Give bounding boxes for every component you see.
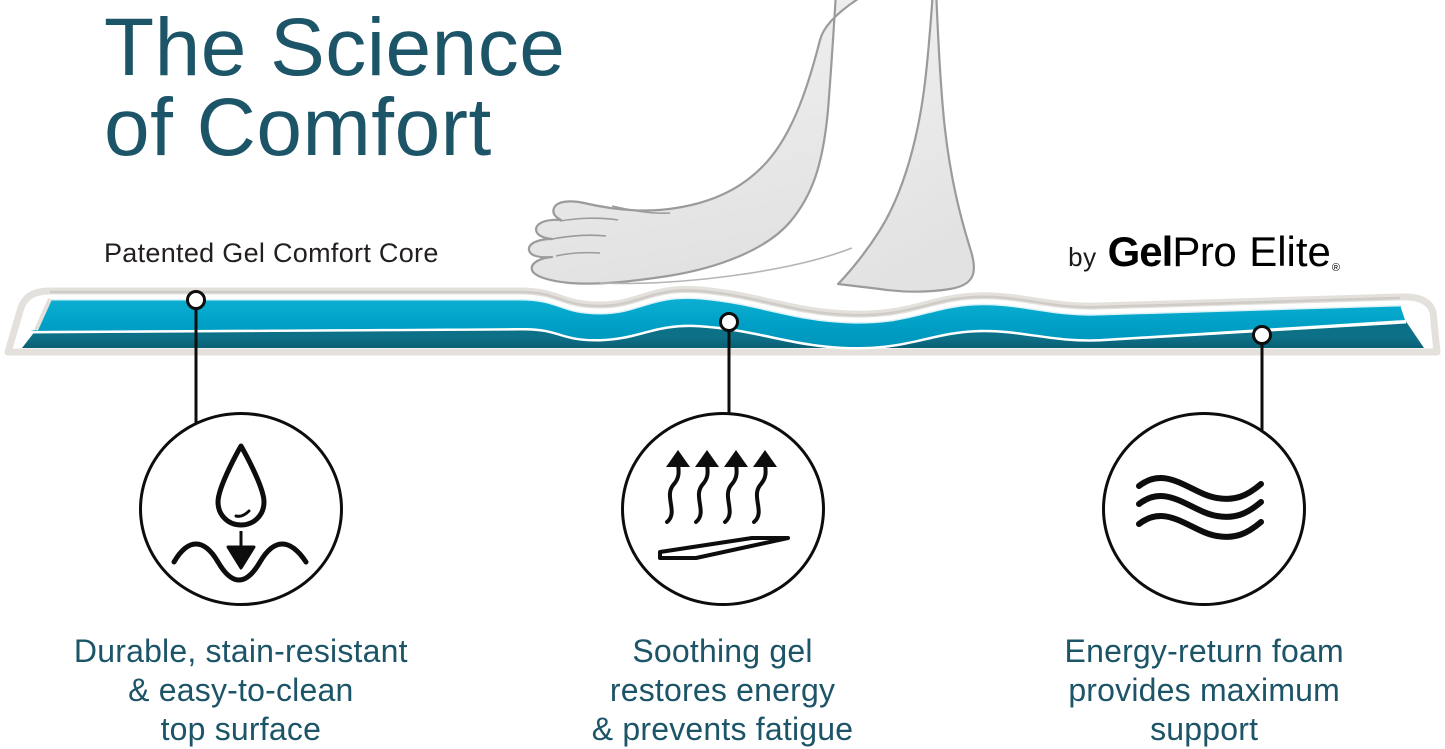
science-of-comfort-infographic: The Science of Comfort Patented Gel Comf…	[0, 0, 1445, 749]
layer-seam-line	[30, 321, 1406, 347]
brand-logo-gelpro-elite: by Gel Pro Elite ®	[1068, 228, 1340, 276]
rising-energy-arrows-over-mat-icon	[648, 434, 798, 584]
gel-layer-top-edge	[50, 297, 1400, 322]
feature-caption-3: Energy-return foam provides maximum supp…	[1065, 632, 1344, 749]
registered-trademark-icon: ®	[1332, 262, 1340, 274]
feature-icon-circle-3	[1102, 412, 1306, 606]
callout-top-surface	[188, 292, 205, 431]
page-title: The Science of Comfort	[104, 8, 724, 169]
mat-contact-contour	[50, 290, 1400, 315]
feature-list: Durable, stain-resistant & easy-to-clean…	[0, 412, 1445, 749]
feature-caption-2: Soothing gel restores energy & prevents …	[592, 632, 854, 749]
mat-outer-outline	[8, 289, 1437, 352]
feature-soothing-gel: Soothing gel restores energy & prevents …	[482, 412, 964, 749]
feature-icon-circle-1	[139, 412, 343, 606]
mat-left-bevel	[36, 299, 50, 330]
feature-top-surface: Durable, stain-resistant & easy-to-clean…	[0, 412, 482, 749]
gel-comfort-core-layer	[30, 297, 1405, 347]
feature-caption-1: Durable, stain-resistant & easy-to-clean…	[74, 632, 408, 749]
feature-icon-circle-2	[621, 412, 825, 606]
triple-wave-lines-icon	[1129, 434, 1279, 584]
water-droplet-into-waves-icon	[166, 434, 316, 584]
gel-comfort-core-label: Patented Gel Comfort Core	[104, 238, 439, 269]
brand-gel-word: Gel	[1108, 228, 1173, 276]
energy-return-foam-layer	[22, 320, 1424, 348]
brand-by-word: by	[1068, 242, 1096, 273]
brand-elite-word: Elite	[1249, 228, 1331, 276]
feature-energy-return-foam: Energy-return foam provides maximum supp…	[963, 412, 1445, 749]
brand-pro-word: Pro	[1172, 228, 1236, 276]
